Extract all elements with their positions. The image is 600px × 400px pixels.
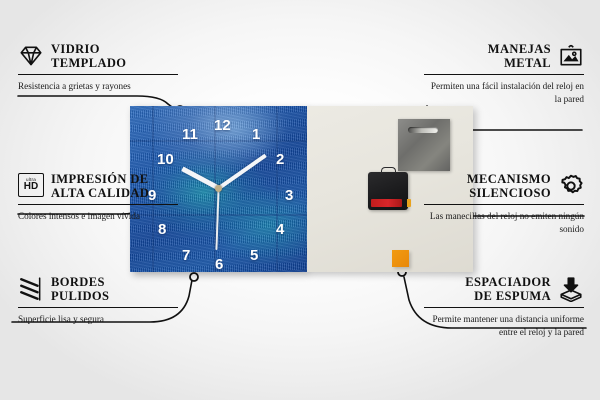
foam-spacer-arrow-icon (558, 276, 584, 302)
battery-terminal (407, 199, 411, 207)
clock-numeral-9: 9 (148, 188, 156, 203)
clock-numeral-6: 6 (215, 257, 223, 272)
feature-title: VIDRIO TEMPLADO (51, 42, 126, 70)
clock-center-cap (215, 185, 222, 192)
mechanism-hanging-tab (381, 167, 396, 173)
feature-title: IMPRESIÓN DE ALTA CALIDAD (51, 172, 149, 200)
foam-spacer (392, 250, 409, 267)
infographic-canvas: 12 1 2 3 4 5 6 7 8 9 10 11 VIDRIO (0, 0, 600, 400)
feature-rule (18, 74, 178, 75)
feature-description: Permiten una fácil instalación del reloj… (424, 80, 584, 104)
feature-title: MECANISMO SILENCIOSO (467, 172, 551, 200)
feature-title: MANEJAS METAL (488, 42, 551, 70)
diamond-icon (18, 43, 44, 69)
feature-rule (18, 204, 178, 205)
wall-hanging-frame-icon (558, 43, 584, 69)
clock-numeral-5: 5 (250, 248, 258, 263)
clock-numeral-4: 4 (276, 222, 284, 237)
feature-rule (18, 307, 178, 308)
feature-description: Las manecillas del reloj no emiten ningú… (424, 210, 584, 234)
feature-description: Resistencia a grietas y rayones (18, 80, 178, 92)
clock-numeral-7: 7 (182, 248, 190, 263)
feature-rule (424, 204, 584, 205)
feature-description: Superficie lisa y segura (18, 313, 178, 325)
feature-description: Colores intensos e imagen vívida (18, 210, 178, 222)
feature-title: BORDES PULIDOS (51, 275, 109, 303)
feature-rule (424, 307, 584, 308)
polished-edges-icon (18, 276, 44, 302)
hanger-keyhole-slot (408, 127, 438, 133)
feature-vidrio-templado: VIDRIO TEMPLADO Resistencia a grietas y … (18, 42, 178, 93)
connector-dot-bordes (190, 273, 198, 281)
clock-numeral-11: 11 (182, 127, 198, 142)
feature-bordes-pulidos: BORDES PULIDOS Superficie lisa y segura (18, 275, 178, 326)
gear-icon (558, 173, 584, 199)
quartz-mechanism (368, 172, 408, 210)
metal-hanger-plate (398, 119, 450, 171)
feature-espaciador-espuma: ESPACIADOR DE ESPUMA Permite mantener un… (424, 275, 584, 338)
clock-numeral-10: 10 (157, 152, 174, 167)
feature-description: Permite mantener una distancia uniforme … (424, 313, 584, 337)
clock-numeral-12: 12 (214, 118, 231, 133)
feature-manejas-metal: MANEJAS METAL Permiten una fácil instala… (424, 42, 584, 105)
ultra-hd-icon: ultra HD (18, 173, 44, 199)
clock-numeral-8: 8 (158, 222, 166, 237)
battery (371, 199, 402, 207)
feature-rule (424, 74, 584, 75)
feature-title: ESPACIADOR DE ESPUMA (465, 275, 551, 303)
clock-numeral-2: 2 (276, 152, 284, 167)
clock-numeral-3: 3 (285, 188, 293, 203)
clock-numeral-1: 1 (252, 127, 260, 142)
feature-mecanismo-silencioso: MECANISMO SILENCIOSO Las manecillas del … (424, 172, 584, 235)
